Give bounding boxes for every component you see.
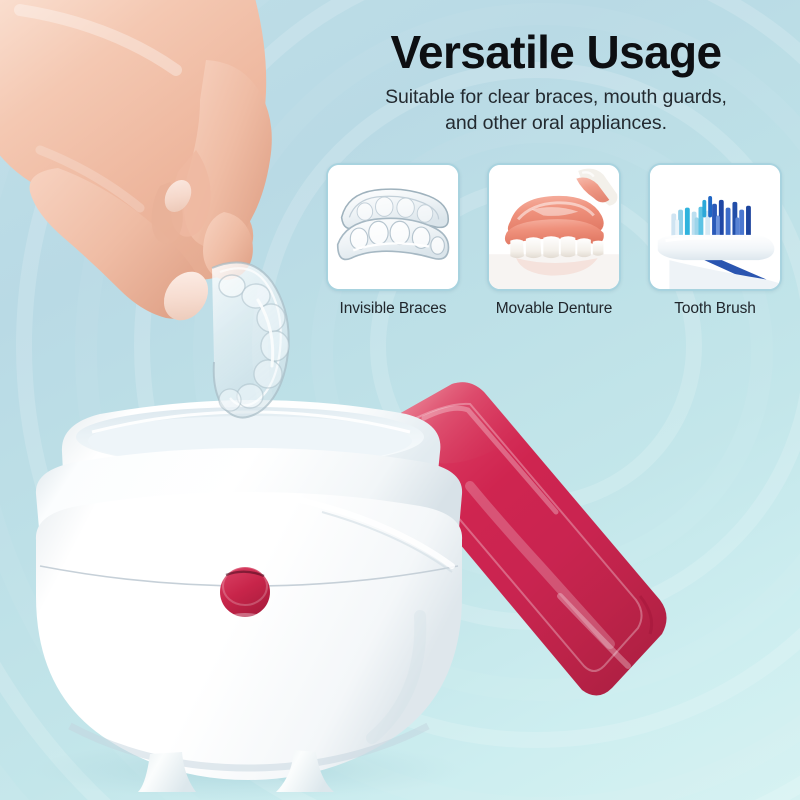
use-case-card-tooth-brush[interactable]: Tooth Brush — [648, 163, 782, 318]
thumb-nail — [155, 263, 217, 328]
toothbrush-head-icon — [650, 165, 780, 289]
finger-nail — [159, 175, 196, 216]
card-image-frame — [487, 163, 621, 291]
card-image-frame — [326, 163, 460, 291]
background-arc — [252, 62, 800, 630]
body-seam-line — [40, 566, 458, 586]
tank-opening — [76, 407, 424, 467]
use-case-card-invisible-braces[interactable]: Invisible Braces — [326, 163, 460, 318]
product-body — [36, 400, 462, 792]
card-caption: Movable Denture — [496, 300, 613, 318]
thumb — [30, 168, 201, 319]
hand — [0, 0, 266, 280]
page-subtitle: Suitable for clear braces, mouth guards,… — [330, 85, 782, 136]
product-lid — [389, 382, 666, 695]
card-caption: Invisible Braces — [340, 300, 447, 318]
card-caption: Tooth Brush — [674, 300, 756, 318]
card-image-frame — [648, 163, 782, 291]
subtitle-line-2: and other oral appliances. — [445, 112, 667, 134]
product-foot-left — [138, 752, 196, 792]
subtitle-line-1: Suitable for clear braces, mouth guards, — [385, 86, 727, 108]
product-marketing-image: Versatile Usage Suitable for clear brace… — [0, 0, 800, 800]
headline-block: Versatile Usage Suitable for clear brace… — [330, 28, 782, 137]
product-foot-right — [276, 750, 334, 792]
index-finger — [184, 60, 272, 248]
use-case-card-movable-denture[interactable]: Movable Denture — [487, 163, 621, 318]
page-title: Versatile Usage — [330, 28, 782, 76]
clear-aligner — [212, 262, 289, 417]
partial-denture-icon — [489, 165, 619, 289]
use-case-card-row: Invisible Braces — [326, 163, 782, 318]
product-shadow — [33, 740, 463, 800]
clear-aligner-trays-icon — [328, 165, 458, 289]
hand-holding-aligner — [0, 0, 272, 329]
power-button — [220, 567, 270, 623]
